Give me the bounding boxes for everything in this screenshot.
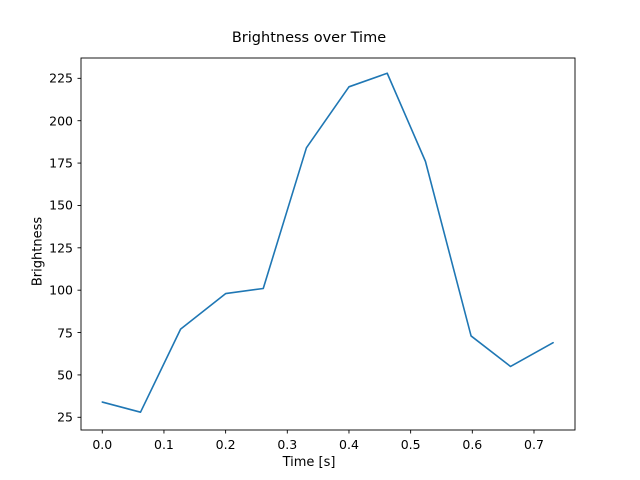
- x-tick-label: 0.0: [92, 437, 112, 452]
- y-tick-label: 225: [37, 71, 73, 86]
- matplotlib-figure: Brightness over Time Brightness Time [s]…: [0, 0, 640, 480]
- x-tick-label: 0.3: [277, 437, 297, 452]
- y-tick-label: 175: [37, 156, 73, 171]
- y-tick-label: 200: [37, 113, 73, 128]
- x-tick-label: 0.7: [524, 437, 544, 452]
- x-tick-label: 0.2: [216, 437, 236, 452]
- axes-frame: [81, 58, 575, 430]
- x-tick-label: 0.1: [154, 437, 174, 452]
- x-tick-label: 0.6: [462, 437, 482, 452]
- plot-area: [0, 0, 640, 480]
- y-tick-label: 100: [37, 283, 73, 298]
- y-tick-label: 125: [37, 240, 73, 255]
- y-tick-label: 150: [37, 198, 73, 213]
- y-tick-label: 75: [37, 325, 73, 340]
- y-tick-label: 50: [37, 367, 73, 382]
- y-tick-label: 25: [37, 410, 73, 425]
- x-tick-label: 0.4: [339, 437, 359, 452]
- x-tick-label: 0.5: [401, 437, 421, 452]
